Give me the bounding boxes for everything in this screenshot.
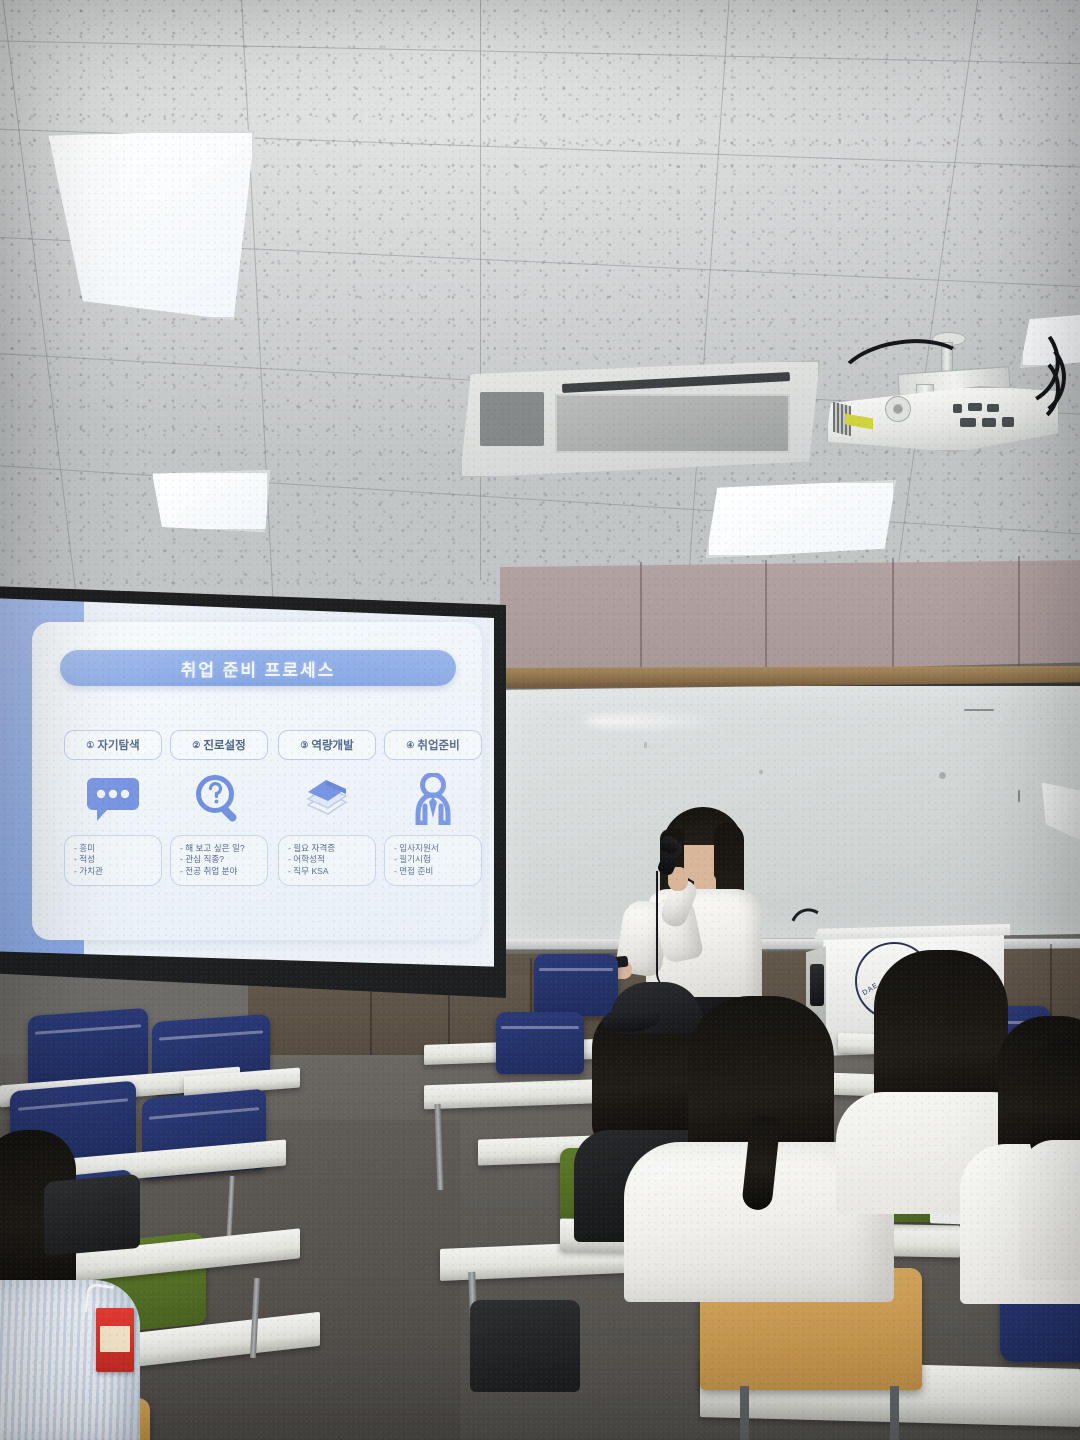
slide-column-1-list: - 흥미 - 적성 - 가치관 (64, 835, 162, 886)
juice-box[interactable] (96, 1308, 134, 1372)
chair[interactable] (534, 954, 618, 1016)
list-item: - 흥미 (74, 843, 157, 854)
list-item: - 필요 자격증 (288, 843, 371, 854)
list-item: - 해 보고 싶은 일? (180, 843, 263, 854)
slide-column-4-number: ④ (406, 740, 414, 751)
slide-column-3: ③ 역량개발 - 필요 자격증 - 어학성적 - 직무 KSA (278, 730, 376, 886)
slide-column-4-title: 취업준비 (417, 737, 459, 753)
list-item: - 입사지원서 (394, 843, 477, 854)
slide-column-1-title: 자기탐색 (97, 737, 139, 753)
slide-column-2-list: - 해 보고 싶은 일? - 관심 직종? - 전공 취업 분야 (170, 835, 268, 886)
slide-column-4: ④ 취업준비 - 입사지원서 - 필기시험 - 면접 준비 (384, 730, 482, 886)
classroom-photo: 취업 준비 프로세스 ① 자기탐색 - 흥미 - 적성 - 가치관 (0, 0, 1080, 1440)
slide-column-4-list: - 입사지원서 - 필기시험 - 면접 준비 (384, 835, 482, 886)
slide-column-2-number: ② (192, 740, 200, 751)
list-item: - 직무 KSA (288, 866, 371, 877)
backpack (470, 1300, 580, 1392)
slide-column-1-number: ① (86, 740, 94, 751)
slide-column-2-heading: ② 진로설정 (170, 730, 268, 760)
list-item: - 가치관 (74, 866, 157, 877)
ceiling-light-right (706, 480, 896, 558)
list-item: - 적성 (74, 854, 157, 865)
ceiling-light-mid-left (150, 470, 270, 532)
magnifier-question-icon (170, 771, 268, 827)
slide-column-3-number: ③ (300, 740, 308, 751)
slide-column-3-heading: ③ 역량개발 (278, 730, 376, 760)
list-item: - 면접 준비 (394, 866, 477, 877)
speech-bubble-icon (64, 771, 162, 827)
upper-wall-acoustic-panels (500, 560, 1080, 676)
list-item: - 필기시험 (394, 854, 477, 865)
person-tie-icon (384, 771, 482, 827)
juice-straw (84, 1282, 114, 1315)
chair[interactable] (496, 1012, 584, 1074)
list-item: - 관심 직종? (180, 854, 263, 865)
list-item: - 어학성적 (288, 854, 371, 865)
student-white-top (1020, 1140, 1080, 1280)
slide-column-1-heading: ① 자기탐색 (64, 730, 162, 760)
ceiling-cassette-ac (460, 360, 820, 478)
slide-column-2: ② 진로설정 - 해 보고 싶은 일? - 관심 직종? - 전공 취업 분야 (170, 730, 268, 886)
microphone-cord (656, 871, 672, 989)
slide-title-text: 취업 준비 프로세스 (181, 656, 336, 681)
slide-column-4-heading: ④ 취업준비 (384, 730, 482, 760)
slide-column-3-title: 역량개발 (311, 737, 353, 753)
curled-paper (1042, 783, 1080, 841)
slide-title-bar: 취업 준비 프로세스 (60, 650, 456, 686)
list-item: - 전공 취업 분야 (180, 866, 263, 877)
projected-slide: 취업 준비 프로세스 ① 자기탐색 - 흥미 - 적성 - 가치관 (0, 598, 494, 982)
slide-column-1: ① 자기탐색 - 흥미 - 적성 - 가치관 (64, 730, 162, 886)
whiteboard (496, 682, 1080, 944)
slide-column-3-list: - 필요 자격증 - 어학성적 - 직무 KSA (278, 835, 376, 886)
books-stack-icon (278, 771, 376, 827)
slide-column-2-title: 진로설정 (203, 737, 245, 753)
backpack (44, 1174, 140, 1256)
lectern-control-screen (810, 964, 824, 1006)
